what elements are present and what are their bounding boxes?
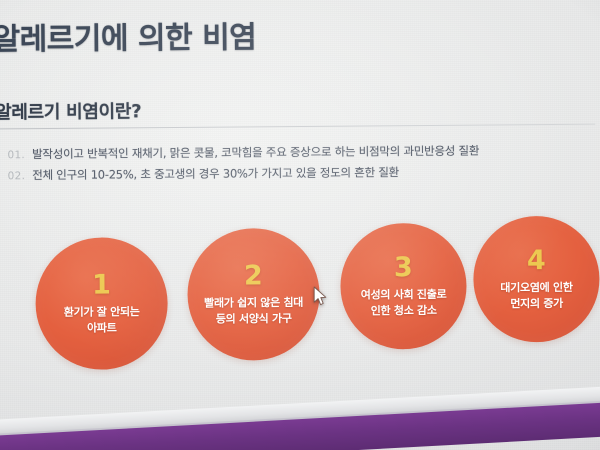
cause-circle-3-number: 3 [394, 254, 413, 281]
cause-circle-1-label: 환기가 잘 안되는 아파트 [60, 305, 144, 336]
cause-circle-2-line1: 빨래가 쉽지 않은 침대 [204, 296, 303, 310]
mouse-cursor-icon [313, 286, 329, 308]
cause-circle-2-label: 빨래가 쉽지 않은 침대 등의 서양식 가구 [200, 295, 307, 326]
cause-circle-4: 4 대기오염에 인한 먼지의 증가 [473, 216, 600, 343]
cause-circle-3-line2: 인한 청소 감소 [371, 303, 437, 317]
slide-photo: 알레르기에 의한 비염 알레르기 비염이란? 01. 발작성이고 반복적인 재채… [0, 0, 600, 450]
cause-circle-4-line2: 먼지의 증가 [510, 296, 563, 309]
cause-circle-4-label: 대기오염에 인한 먼지의 증가 [496, 280, 577, 311]
cause-circle-1: 1 환기가 잘 안되는 아파트 [35, 237, 168, 370]
cause-circle-2-line2: 등의 서양식 가구 [216, 312, 292, 326]
cause-circle-1-number: 1 [92, 272, 111, 299]
cause-circle-3: 3 여성의 사회 진출로 인한 청소 감소 [340, 223, 467, 350]
cause-circle-4-line1: 대기오염에 인한 [500, 281, 572, 295]
slide-content: 알레르기에 의한 비염 알레르기 비염이란? 01. 발작성이고 반복적인 재채… [0, 0, 600, 450]
cause-circle-2-number: 2 [244, 263, 263, 290]
cause-circle-group: 1 환기가 잘 안되는 아파트 2 빨래가 쉽지 않은 침대 등의 서양식 가구… [0, 0, 600, 450]
cause-circle-3-line1: 여성의 사회 진출로 [361, 288, 447, 302]
cause-circle-1-line2: 아파트 [87, 321, 117, 334]
cause-circle-4-number: 4 [527, 247, 546, 274]
cause-circle-2: 2 빨래가 쉽지 않은 침대 등의 서양식 가구 [187, 228, 320, 361]
cause-circle-3-label: 여성의 사회 진출로 인한 청소 감소 [357, 287, 451, 318]
cause-circle-1-line1: 환기가 잘 안되는 [64, 306, 140, 320]
